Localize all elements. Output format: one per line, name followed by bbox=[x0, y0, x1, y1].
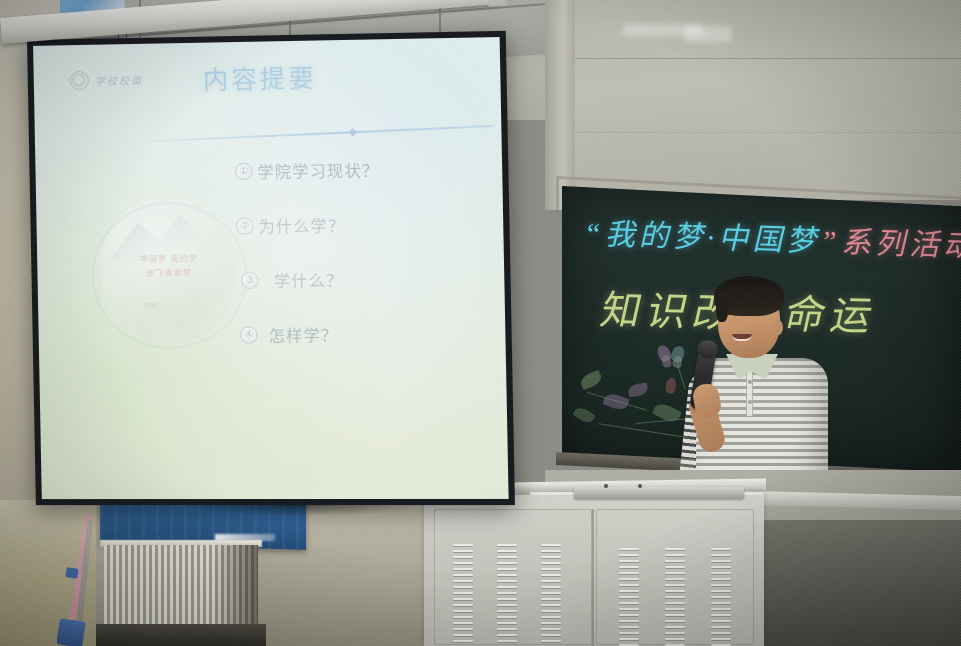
bullet-text: 学什么？ bbox=[274, 267, 344, 292]
presentation-slide: 学校校徽 内容提要 中国梦 我的梦 放飞青春梦 印章 ① 学院学习现状？ ② bbox=[33, 37, 509, 499]
chalk-line1-part1: 我的梦·中国梦 bbox=[604, 218, 820, 258]
projection-screen: 学校校徽 内容提要 中国梦 我的梦 放飞青春梦 印章 ① 学院学习现状？ ② bbox=[27, 31, 515, 505]
podium-hardware bbox=[574, 487, 744, 499]
butterfly-icon bbox=[658, 345, 688, 373]
divider-diamond-icon bbox=[348, 128, 357, 137]
bullet-text: 怎样学？ bbox=[269, 322, 339, 347]
watermark-caption-2: 放飞青春梦 bbox=[126, 266, 213, 280]
watermark-seal: 印章 bbox=[144, 301, 156, 310]
wall-column bbox=[545, 0, 575, 210]
bullet-text: 为什么学？ bbox=[258, 212, 345, 237]
list-item: ③ 学什么？ bbox=[241, 266, 484, 293]
classroom-photo: “我的梦·中国梦”系列活动 知识改变命运 bbox=[0, 0, 961, 646]
university-logo: 学校校徽 bbox=[70, 70, 144, 90]
chalk-line1-part2: 系列活动 bbox=[841, 226, 961, 264]
chalk-quote-open: “ bbox=[584, 218, 605, 252]
microphone-head bbox=[696, 339, 719, 360]
logo-text: 学校校徽 bbox=[95, 72, 144, 88]
podium-door-left[interactable] bbox=[434, 509, 592, 645]
broom-clip bbox=[65, 567, 78, 579]
eye-left bbox=[726, 312, 734, 315]
list-item: ② 为什么学？ bbox=[236, 211, 483, 238]
bullet-number-icon: ④ bbox=[240, 326, 258, 343]
chalk-quote-close: ” bbox=[820, 225, 841, 259]
broom-head bbox=[56, 618, 85, 646]
bullet-number-icon: ① bbox=[235, 162, 253, 179]
eye-right bbox=[746, 312, 754, 315]
presenter-hair bbox=[714, 276, 784, 316]
slide-bullet-list: ① 学院学习现状？ ② 为什么学？ ③ 学什么？ ④ 怎样学？ bbox=[235, 156, 486, 377]
ear bbox=[774, 320, 783, 335]
bullet-number-icon: ③ bbox=[241, 271, 259, 288]
bullet-number-icon: ② bbox=[236, 217, 254, 234]
right-upper-wall bbox=[545, 0, 961, 200]
list-item: ④ 怎样学？ bbox=[240, 321, 485, 347]
list-item: ① 学院学习现状？ bbox=[235, 156, 482, 184]
watermark-caption-1: 中国梦 我的梦 bbox=[125, 252, 212, 266]
seal-icon bbox=[70, 71, 89, 90]
radiator-base bbox=[96, 624, 266, 646]
shirt-placket bbox=[746, 372, 753, 416]
slide-divider bbox=[153, 125, 492, 142]
slide-title: 内容提要 bbox=[203, 59, 318, 97]
slide-watermark-art: 中国梦 我的梦 放飞青春梦 印章 bbox=[98, 195, 238, 345]
bullet-text: 学院学习现状？ bbox=[257, 157, 379, 183]
platform-shadow bbox=[760, 520, 961, 646]
podium-door-right[interactable] bbox=[596, 509, 754, 645]
podium-cabinet[interactable] bbox=[424, 492, 764, 646]
